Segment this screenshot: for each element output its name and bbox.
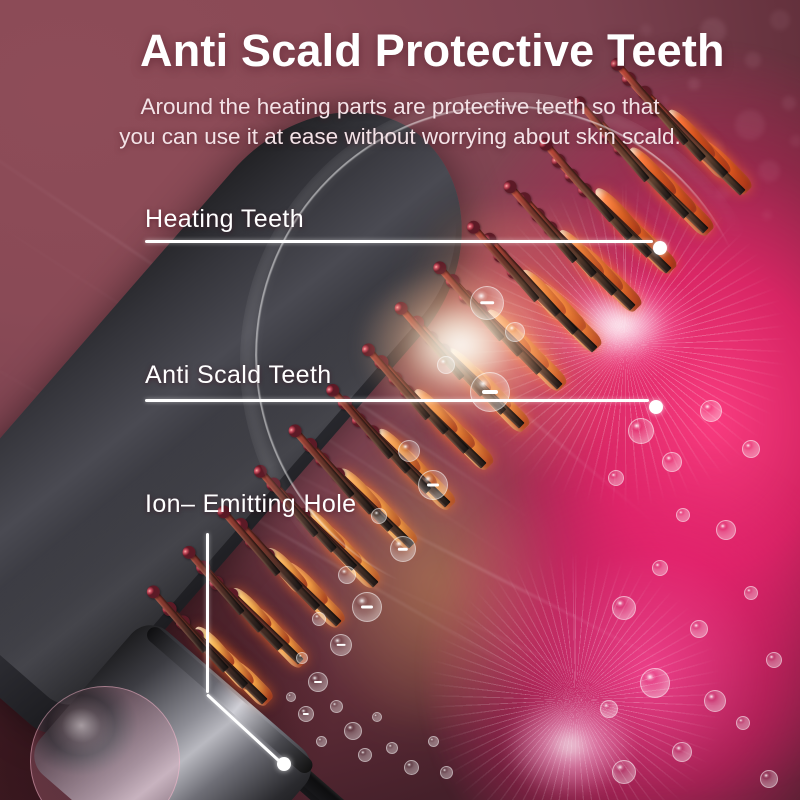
ion-bubble — [330, 634, 352, 656]
ion-minus-symbol — [482, 390, 498, 394]
bubble — [608, 470, 624, 486]
bubble — [600, 700, 618, 718]
bubble — [312, 612, 326, 626]
bubble — [612, 760, 636, 784]
bubble — [760, 770, 778, 788]
subtitle-line-1: Around the heating parts are protective … — [0, 92, 800, 122]
page-title: Anti Scald Protective Teeth — [140, 25, 725, 77]
ion-minus-symbol — [303, 713, 309, 715]
bubble — [742, 440, 760, 458]
tooth-shaft — [150, 588, 208, 653]
bubble — [440, 766, 453, 779]
ion-bubble — [390, 536, 416, 562]
bubble — [505, 322, 525, 342]
bubble — [662, 452, 682, 472]
callout-line-anti-scald-teeth — [145, 399, 649, 402]
ion-minus-symbol — [337, 644, 346, 646]
callout-label-anti-scald-teeth: Anti Scald Teeth — [145, 361, 332, 390]
bubble — [744, 586, 758, 600]
ion-minus-symbol — [480, 301, 494, 304]
ion-bubble — [418, 470, 448, 500]
callout-label-heating-teeth: Heating Teeth — [145, 205, 304, 234]
ion-minus-symbol — [398, 548, 408, 551]
bubble — [676, 508, 690, 522]
subtitle-line-2: you can use it at ease without worrying … — [0, 122, 800, 152]
ion-minus-symbol — [314, 681, 322, 683]
ion-minus-symbol — [361, 606, 373, 609]
ion-bubble — [298, 706, 314, 722]
anti-scald-tooth — [183, 546, 248, 617]
bubble — [640, 668, 670, 698]
bubble — [736, 716, 750, 730]
bubble — [358, 748, 372, 762]
callout-dot-ion-emitting-hole — [277, 757, 291, 771]
bubble — [437, 356, 455, 374]
bubble — [672, 742, 692, 762]
callout-dot-heating-teeth — [653, 241, 667, 255]
ion-minus-symbol — [427, 484, 439, 487]
bubble — [612, 596, 636, 620]
ion-bubble — [308, 672, 328, 692]
bubble — [628, 418, 654, 444]
tooth-shaft — [185, 549, 244, 616]
callout-line-ion-emitting-hole-vertical — [206, 533, 209, 693]
bubble — [338, 566, 356, 584]
bubble — [286, 692, 296, 702]
bubble — [766, 652, 782, 668]
bubble — [296, 652, 308, 664]
bubble — [371, 508, 387, 524]
subtitle: Around the heating parts are protective … — [0, 92, 800, 152]
bubble — [404, 760, 419, 775]
bubble — [652, 560, 668, 576]
ion-bubble — [470, 286, 504, 320]
bubble — [716, 520, 736, 540]
ion-bubble — [352, 592, 382, 622]
callout-label-ion-emitting-hole: Ion– Emitting Hole — [145, 490, 356, 519]
bubble — [398, 440, 420, 462]
product-marketing-banner: Anti Scald Protective Teeth Around the h… — [0, 0, 800, 800]
bubble — [690, 620, 708, 638]
callout-line-heating-teeth — [145, 240, 653, 243]
callout-dot-anti-scald-teeth — [649, 400, 663, 414]
bubble — [316, 736, 327, 747]
bubble — [386, 742, 398, 754]
bubble — [372, 712, 382, 722]
anti-scald-tooth — [147, 586, 210, 656]
bubble — [704, 690, 726, 712]
ion-bubble — [470, 372, 510, 412]
bubble — [428, 736, 439, 747]
bubble — [330, 700, 343, 713]
bubble — [700, 400, 722, 422]
bubble — [344, 722, 362, 740]
